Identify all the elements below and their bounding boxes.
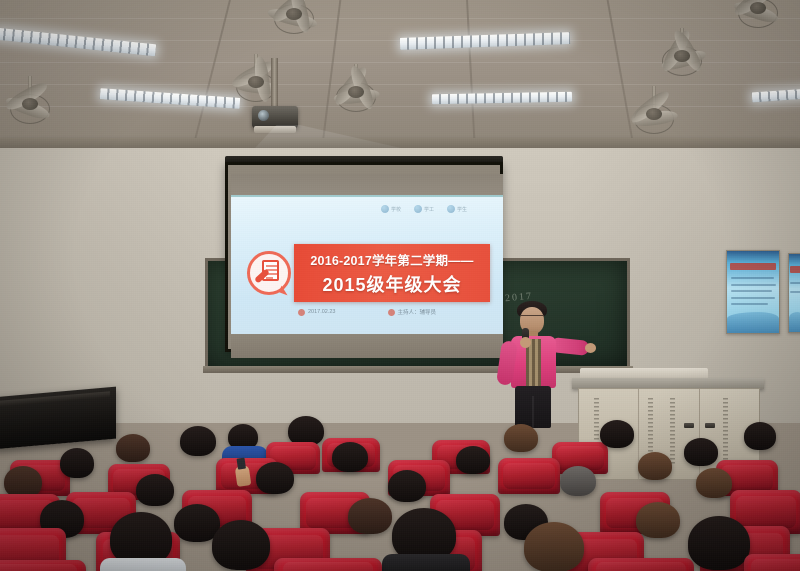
audience-seating (0, 408, 800, 571)
seat[interactable] (744, 554, 800, 571)
ceiling-mounted-projector (252, 58, 298, 140)
document-pencil-bubble-logo (247, 251, 291, 295)
audience-head (256, 462, 294, 494)
slide-header-chips: 学校 学工 学生 (381, 205, 467, 213)
seat[interactable] (0, 560, 86, 571)
audience-head (684, 438, 718, 466)
audience-head (180, 426, 216, 456)
lecture-hall-photo: 欢迎同学们 2017 学校 学工 (0, 0, 800, 571)
slide-footer-date-text: 2017.02.23 (308, 309, 336, 315)
slide-title-line-2: 2015级年级大会 (322, 271, 461, 297)
slide-title-line-1: 2016-2017学年第二学期—— (310, 250, 473, 269)
seat[interactable] (498, 458, 560, 494)
audience-head (524, 522, 584, 571)
audience-head (600, 420, 634, 448)
poster-title-bar (730, 263, 776, 270)
slide-footer-host: 主持人：辅导员 (388, 308, 437, 316)
blue-dot-icon (447, 205, 455, 213)
blue-dot-icon (381, 205, 389, 213)
slide-header-chip: 学生 (447, 205, 467, 213)
audience-head (60, 448, 94, 478)
ceiling-fan (310, 64, 402, 122)
slide-footer-date: 2017.02.23 (298, 308, 336, 316)
audience-head (388, 470, 426, 502)
slide-chip-label: 学生 (457, 206, 467, 213)
audience-head (696, 468, 732, 498)
seat[interactable] (588, 558, 694, 571)
audience-head (638, 452, 672, 480)
red-dot-icon (298, 309, 305, 316)
slide-title-banner: 2016-2017学年第二学期—— 2015级年级大会 (294, 244, 490, 302)
ceiling-fan (712, 0, 800, 38)
audience-head (456, 446, 490, 474)
slide-header-chip: 学校 (381, 205, 401, 213)
speaker-glasses (521, 315, 543, 320)
ceiling-fan (608, 86, 700, 144)
audience-head (688, 516, 750, 570)
ceiling-fan (0, 76, 76, 134)
slide-chip-label: 学校 (391, 206, 401, 213)
slide-footer: 2017.02.23 主持人：辅导员 (231, 308, 503, 316)
ceiling-fan (248, 0, 340, 44)
audience-head (636, 502, 680, 538)
audience-head (116, 434, 150, 462)
presentation-slide: 学校 学工 学生 (231, 195, 503, 335)
wall-poster-fire-safety (788, 253, 800, 333)
slide-header-chip: 学工 (414, 205, 434, 213)
projector-lens (258, 110, 269, 121)
screen-frame: 学校 学工 学生 (225, 162, 503, 352)
audience-head (744, 422, 776, 450)
blue-dot-icon (414, 205, 422, 213)
seat[interactable] (274, 558, 382, 571)
audience-head (348, 498, 392, 534)
audience-head (212, 520, 270, 570)
audience-head (560, 466, 596, 496)
slide-chip-label: 学工 (424, 206, 434, 213)
wall-poster-safety (726, 250, 780, 334)
audience-shoulders (382, 554, 470, 571)
audience-head (332, 442, 368, 472)
red-dot-icon (388, 309, 395, 316)
speaker-right-arm (550, 337, 589, 356)
projection-screen: 学校 学工 学生 (225, 156, 503, 352)
slide-footer-host-text: 主持人：辅导员 (398, 308, 437, 316)
audience-shoulders (100, 558, 186, 571)
audience-head (504, 424, 538, 452)
raised-hand-with-phone (235, 465, 252, 487)
audience-head (136, 474, 174, 506)
